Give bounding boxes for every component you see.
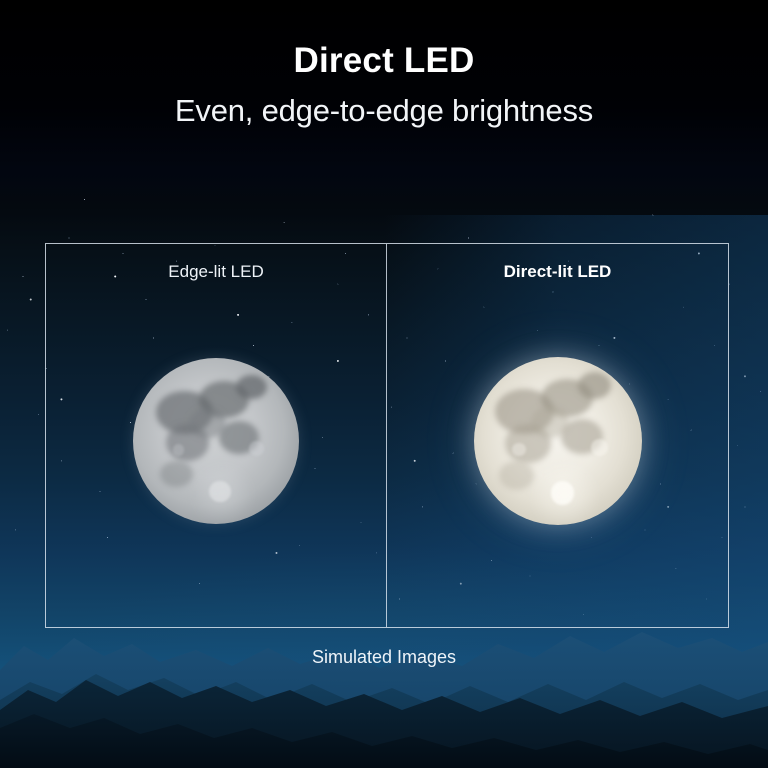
comparison-panel-direct-lit[interactable]: Direct-lit LED	[387, 244, 728, 627]
panel-label-direct-lit: Direct-lit LED	[387, 262, 728, 282]
page-subtitle: Even, edge-to-edge brightness	[0, 92, 768, 129]
dim-moon-image	[133, 358, 299, 524]
comparison-frame: Edge-lit LED Direct-lit LED	[45, 243, 729, 628]
panel-label-edge-lit: Edge-lit LED	[46, 262, 386, 282]
page-title: Direct LED	[0, 43, 768, 80]
bright-moon-image	[474, 357, 642, 525]
comparison-panel-edge-lit[interactable]: Edge-lit LED	[46, 244, 387, 627]
disclaimer-caption: Simulated Images	[0, 647, 768, 668]
